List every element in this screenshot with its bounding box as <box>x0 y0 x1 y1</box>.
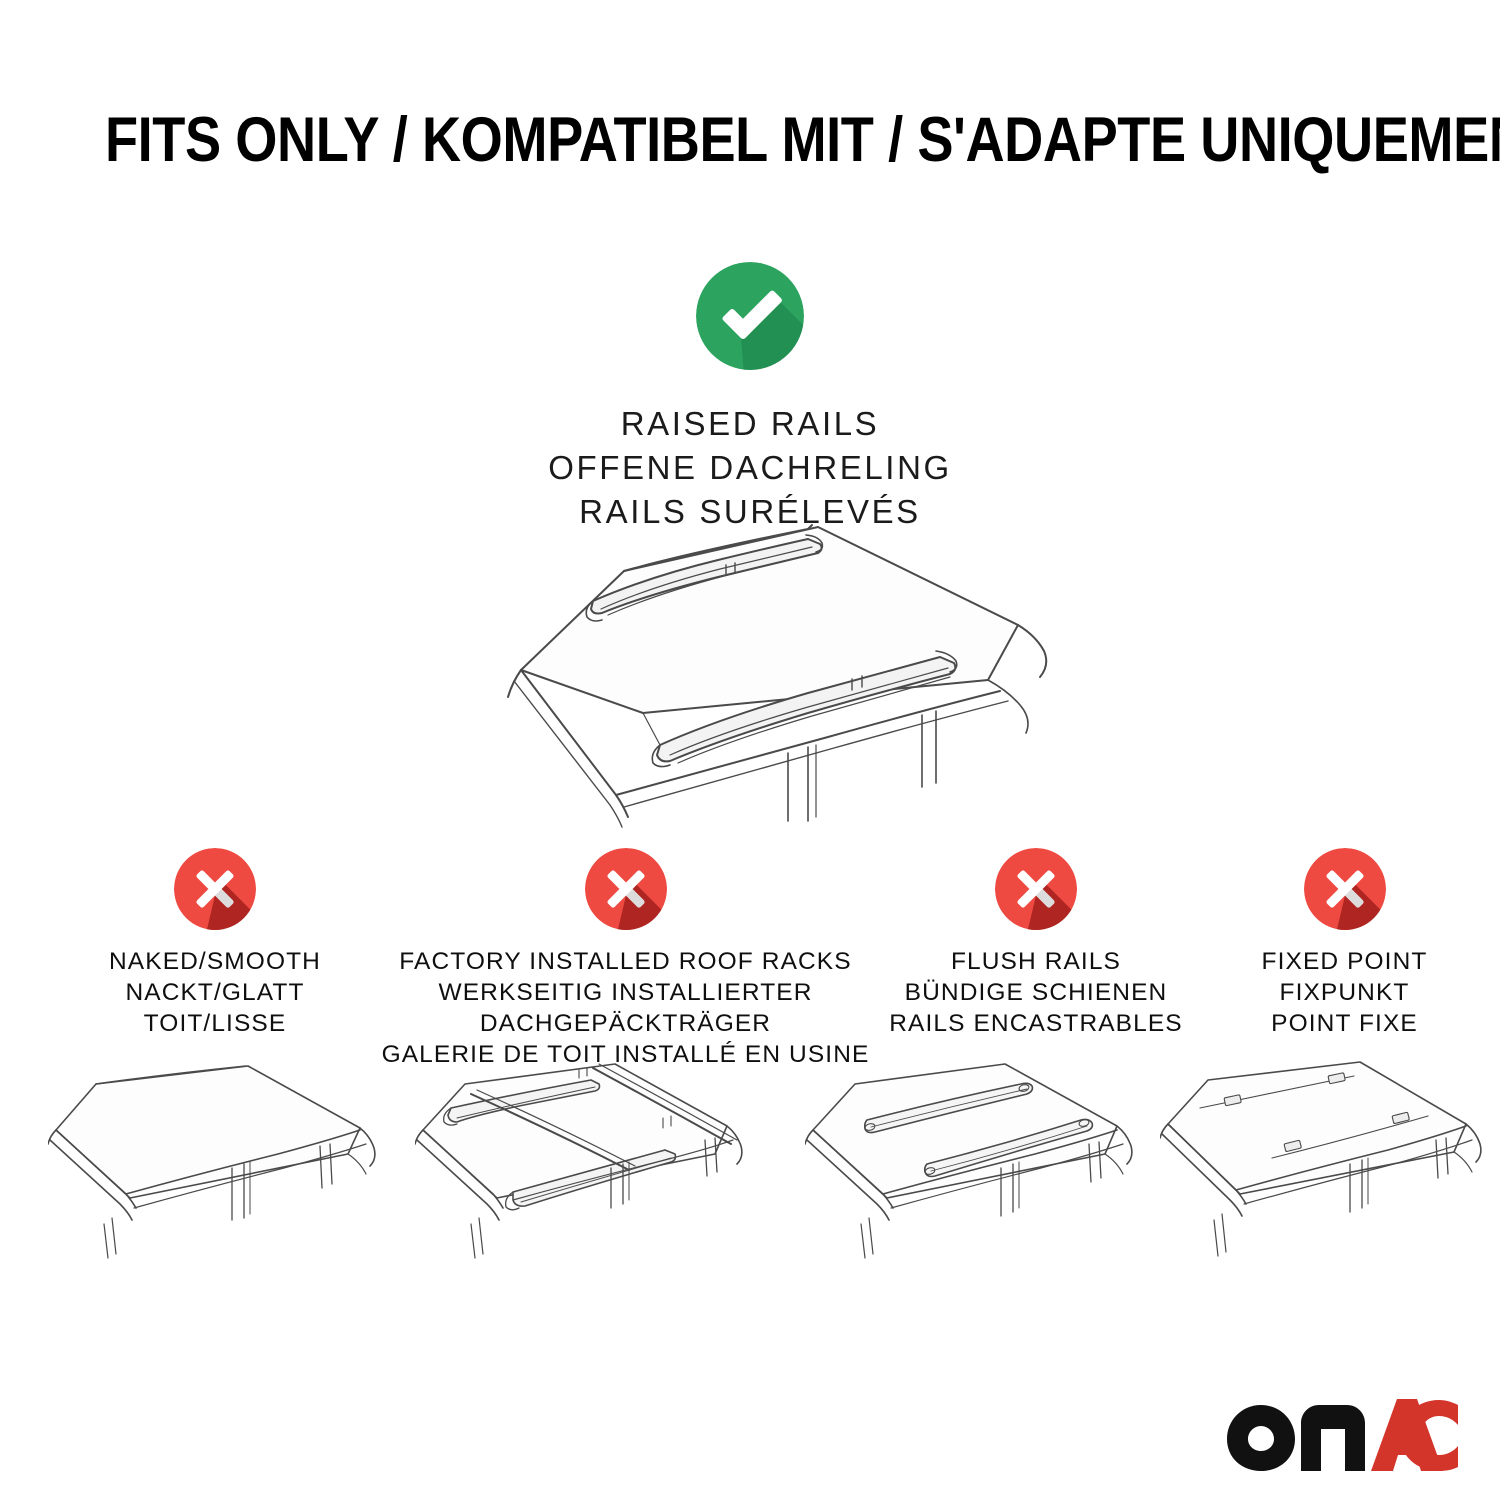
incompatible-label-line: FLUSH RAILS <box>889 946 1182 977</box>
car-roof-flush-rails-illustration <box>805 1058 1155 1278</box>
incompatible-label: FIXED POINT FIXPUNKT POINT FIXE <box>1262 946 1428 1039</box>
incompatible-label-line: DACHGEPÄCKTRÄGER <box>382 1008 870 1039</box>
car-roof-raised-rails-illustration <box>388 505 1108 835</box>
x-circle-icon <box>995 848 1077 930</box>
incompatible-label-line: FIXED POINT <box>1262 946 1428 977</box>
incompatible-item-naked-smooth: NAKED/SMOOTH NACKT/GLATT TOIT/LISSE <box>60 848 370 1039</box>
incompatible-item-fixed-point: FIXED POINT FIXPUNKT POINT FIXE <box>1222 848 1467 1039</box>
car-roof-naked-smooth-illustration <box>48 1058 398 1278</box>
x-circle-icon <box>585 848 667 930</box>
page-title: FITS ONLY / KOMPATIBEL MIT / S'ADAPTE UN… <box>105 104 1395 176</box>
incompatible-label-line: TOIT/LISSE <box>109 1008 321 1039</box>
incompatible-label-line: NAKED/SMOOTH <box>109 946 321 977</box>
omac-logo <box>1225 1393 1460 1471</box>
logo-letter-m <box>1301 1405 1365 1471</box>
car-roof-factory-racks-illustration <box>415 1058 765 1278</box>
incompatible-label: NAKED/SMOOTH NACKT/GLATT TOIT/LISSE <box>109 946 321 1039</box>
incompatible-label-line: FIXPUNKT <box>1262 977 1428 1008</box>
incompatible-item-factory-roof-racks: FACTORY INSTALLED ROOF RACKS WERKSEITIG … <box>398 848 853 1070</box>
incompatible-label-line: NACKT/GLATT <box>109 977 321 1008</box>
fitment-infographic: FITS ONLY / KOMPATIBEL MIT / S'ADAPTE UN… <box>0 0 1500 1500</box>
incompatible-label-line: RAILS ENCASTRABLES <box>889 1008 1182 1039</box>
incompatible-item-flush-rails: FLUSH RAILS BÜNDIGE SCHIENEN RAILS ENCAS… <box>862 848 1210 1039</box>
logo-letter-o <box>1227 1405 1295 1471</box>
x-circle-icon <box>174 848 256 930</box>
incompatible-label-line: WERKSEITIG INSTALLIERTER <box>382 977 870 1008</box>
compatible-label-line: OFFENE DACHRELING <box>548 446 952 490</box>
check-circle-icon <box>696 262 804 370</box>
incompatible-label-line: POINT FIXE <box>1262 1008 1428 1039</box>
car-roof-fixed-point-illustration <box>1160 1058 1500 1278</box>
x-circle-icon <box>1304 848 1386 930</box>
incompatible-label: FACTORY INSTALLED ROOF RACKS WERKSEITIG … <box>382 946 870 1070</box>
incompatible-label-line: BÜNDIGE SCHIENEN <box>889 977 1182 1008</box>
incompatible-label: FLUSH RAILS BÜNDIGE SCHIENEN RAILS ENCAS… <box>889 946 1182 1039</box>
incompatible-label-line: FACTORY INSTALLED ROOF RACKS <box>382 946 870 977</box>
compatible-label-line: RAISED RAILS <box>548 402 952 446</box>
compatible-block: RAISED RAILS OFFENE DACHRELING RAILS SUR… <box>0 262 1500 534</box>
